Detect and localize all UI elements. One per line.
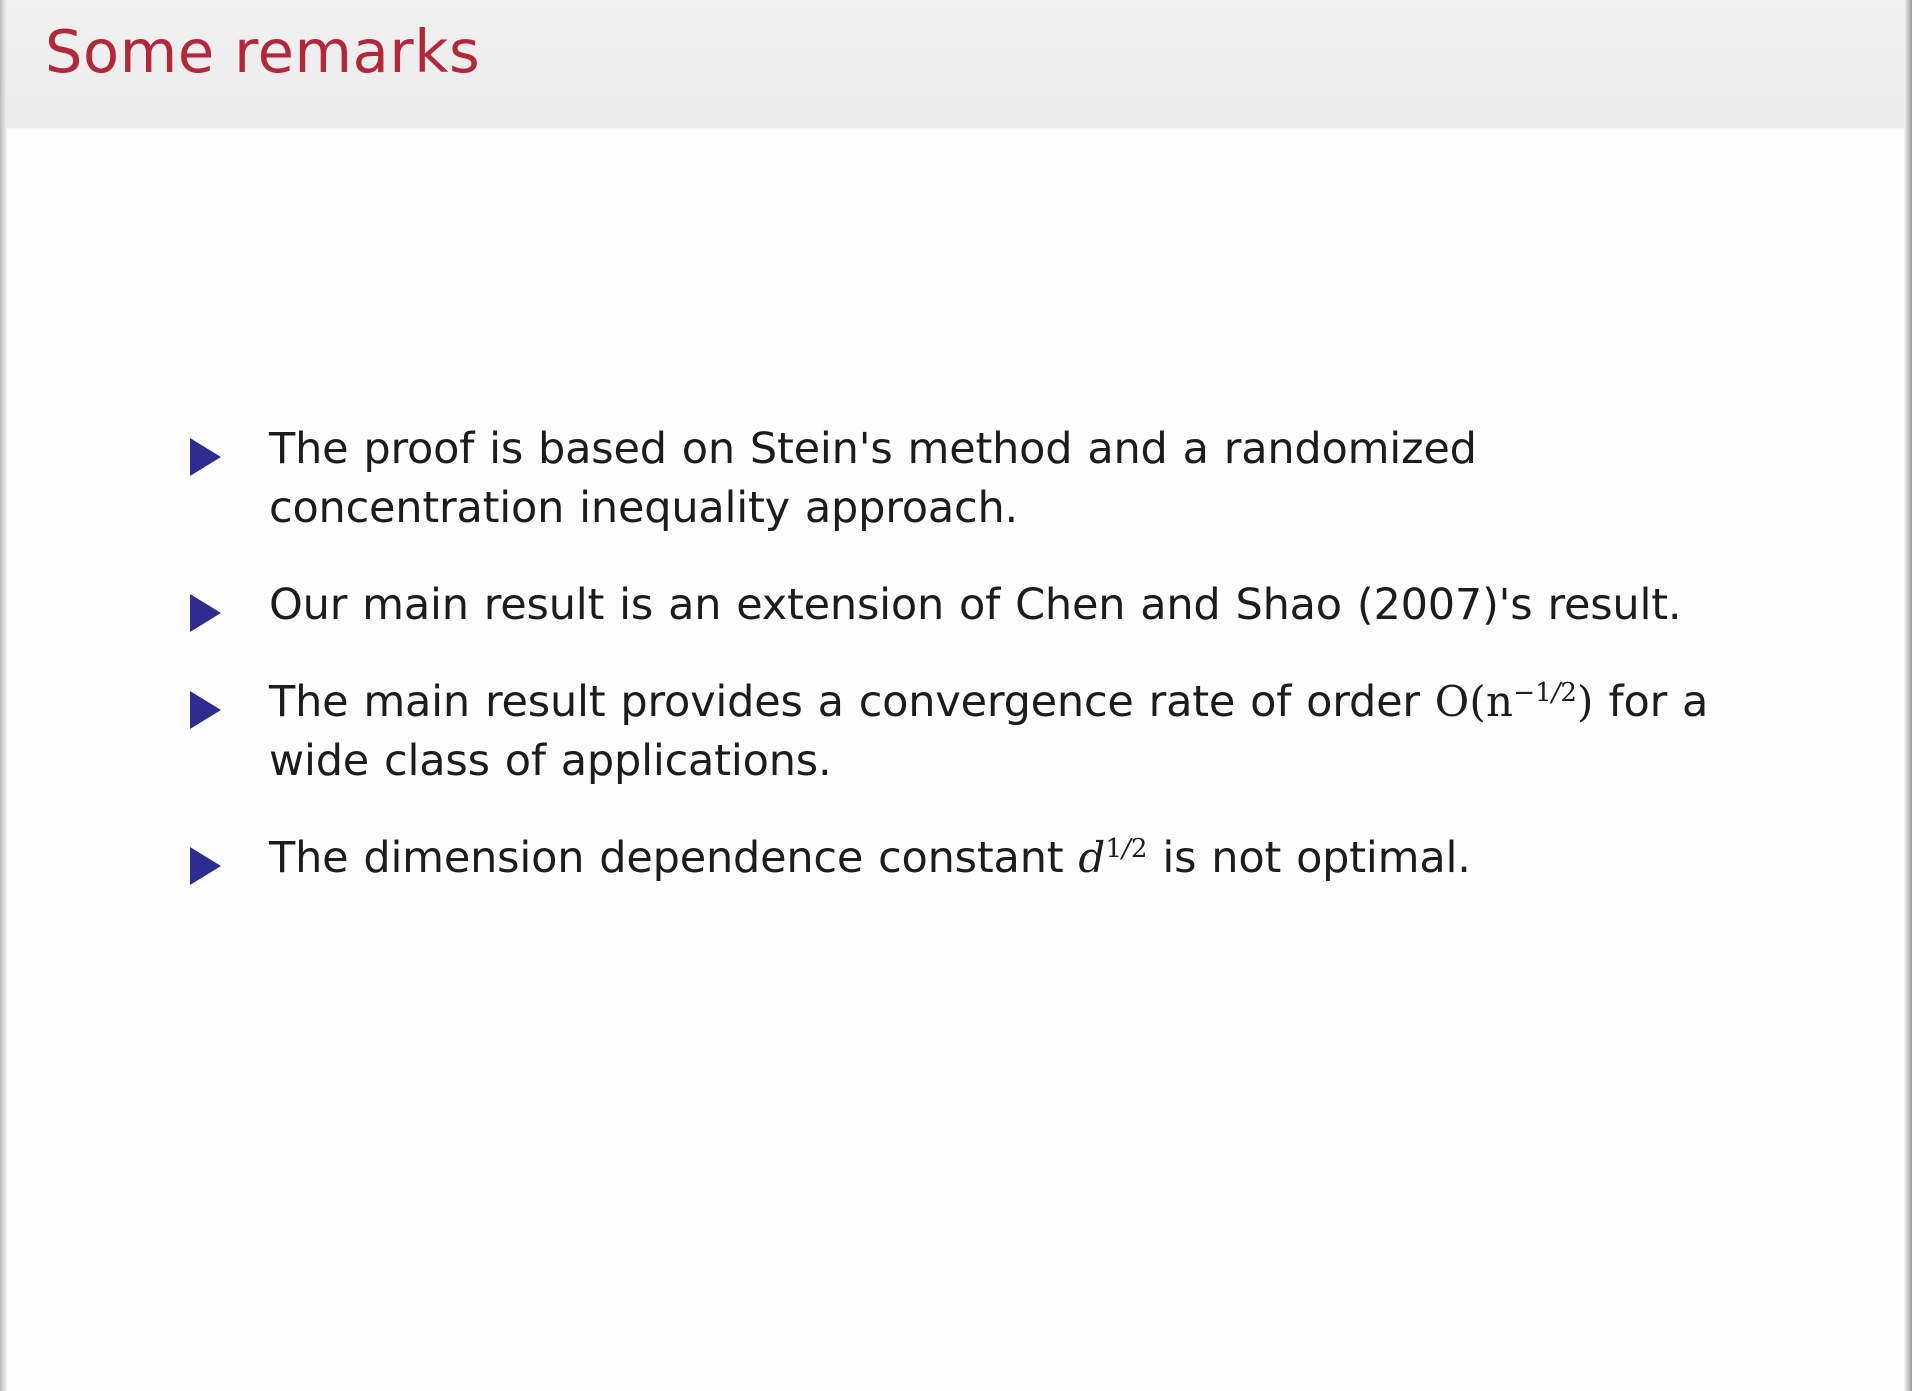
math-exponent: −1/2 <box>1513 678 1577 708</box>
math-dimension-constant: d1/2 <box>1078 833 1147 882</box>
page-title: Some remarks <box>45 17 480 86</box>
math-convergence-order: O(n−1/2) <box>1435 677 1594 726</box>
math-exponent-denominator: 2 <box>1131 834 1148 864</box>
bullet-4-text-before: The dimension dependence constant <box>269 833 1063 883</box>
triangle-bullet-icon <box>190 594 221 632</box>
bullet-4-text-after: is not optimal. <box>1162 833 1470 883</box>
bullet-text-proof-method: The proof is based on Stein's method and… <box>269 420 1750 538</box>
math-exponent-slash: / <box>1122 834 1131 864</box>
list-item: The proof is based on Stein's method and… <box>190 420 1750 538</box>
triangle-bullet-icon <box>190 438 221 476</box>
math-close-paren: ) <box>1577 677 1594 726</box>
bullet-text-convergence-rate: The main result provides a convergence r… <box>269 673 1750 791</box>
math-exponent-sign: − <box>1513 678 1535 708</box>
list-item: The dimension dependence constant d1/2 i… <box>190 829 1750 888</box>
page-edge-right <box>1904 0 1912 1391</box>
bullet-list: The proof is based on Stein's method and… <box>190 420 1750 925</box>
page-edge-left <box>0 0 7 1391</box>
list-item: The main result provides a convergence r… <box>190 673 1750 791</box>
bullet-3-text-before: The main result provides a convergence r… <box>269 677 1420 727</box>
math-exponent-numerator: 1 <box>1105 834 1122 864</box>
math-exponent-numerator: 1 <box>1535 678 1552 708</box>
triangle-bullet-icon <box>190 691 221 729</box>
bullet-text-dimension-constant: The dimension dependence constant d1/2 i… <box>269 829 1750 888</box>
math-exponent: 1/2 <box>1105 834 1147 864</box>
slide-body: The proof is based on Stein's method and… <box>7 130 1904 1391</box>
presentation-slide: Some remarks The proof is based on Stein… <box>0 0 1912 1391</box>
bullet-text-main-result-extension: Our main result is an extension of Chen … <box>269 576 1750 635</box>
math-big-o-base: O(n <box>1435 677 1513 726</box>
math-d-base: d <box>1078 833 1105 882</box>
slide-title-bar: Some remarks <box>7 0 1904 130</box>
list-item: Our main result is an extension of Chen … <box>190 576 1750 635</box>
triangle-bullet-icon <box>190 847 221 885</box>
math-exponent-denominator: 2 <box>1560 678 1577 708</box>
